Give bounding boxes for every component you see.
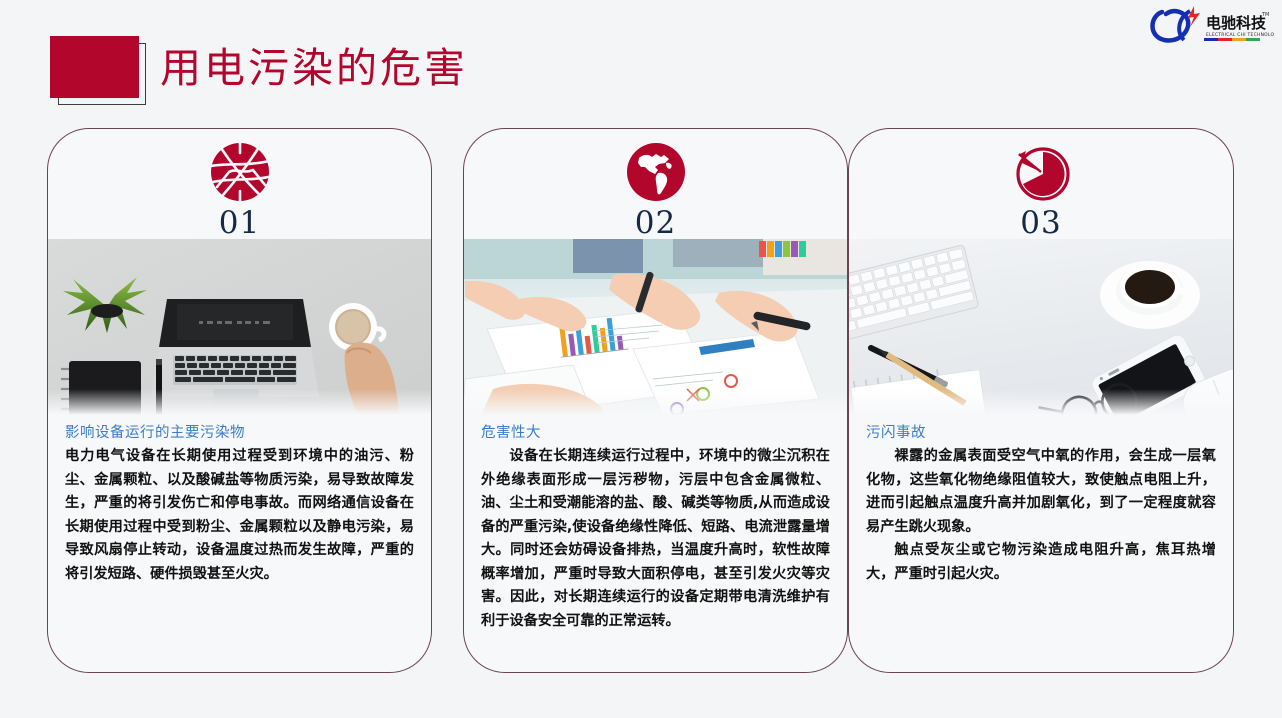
card-02-paragraph-1: 设备在长期连续运行过程中，环境中的微尘沉积在外绝缘表面形成一层污秽物，污层中包含… (481, 445, 830, 633)
card-03-body: 污闪事故 裸露的金属表面受空气中氧的作用，会生成一层氧化物，这些氧化物绝缘阻值较… (849, 415, 1233, 586)
desk-keyboard-phone-coffee-glasses-photo (849, 239, 1233, 415)
card-03[interactable]: 03 (848, 128, 1234, 673)
card-01-header: 01 (48, 129, 431, 239)
card-02-header: 02 (464, 129, 847, 239)
card-03-paragraph-2: 触点受灰尘或它物污染造成电阻升高，焦耳热增大，严重时引起火灾。 (866, 539, 1216, 586)
page-title: 用电污染的危害 (160, 32, 468, 104)
card-01-subtitle: 影响设备运行的主要污染物 (65, 421, 414, 442)
svg-text:ELECTRICAL CHI TECHNOLOGY: ELECTRICAL CHI TECHNOLOGY (1206, 32, 1274, 38)
card-03-paragraph-1: 裸露的金属表面受空气中氧的作用，会生成一层氧化物，这些氧化物绝缘阻值较大，致使触… (866, 445, 1216, 539)
card-03-header: 03 (849, 129, 1233, 239)
cards-container: 01 (0, 128, 1282, 676)
svg-text:TM: TM (1261, 12, 1269, 18)
card-02-body: 危害性大 设备在长期连续运行过程中，环境中的微尘沉积在外绝缘表面形成一层污秽物，… (464, 415, 847, 633)
card-01[interactable]: 01 (47, 128, 432, 673)
card-01-number: 01 (219, 205, 260, 241)
company-logo: 电驰科技 ELECTRICAL CHI TECHNOLOGY TM (1144, 2, 1274, 50)
card-03-number: 03 (1020, 205, 1061, 241)
card-02[interactable]: 02 (463, 128, 848, 673)
card-01-body: 影响设备运行的主要污染物 电力电气设备在长期使用过程受到环境中的油污、粉尘、金属… (48, 415, 431, 586)
team-hands-charts-documents-photo (464, 239, 847, 415)
svg-text:电驰科技: 电驰科技 (1206, 14, 1267, 32)
world-globe-icon (625, 141, 687, 203)
card-03-subtitle: 污闪事故 (866, 421, 1216, 442)
card-01-paragraph-1: 电力电气设备在长期使用过程受到环境中的油污、粉尘、金属颗粒、以及酸碱盐等物质污染… (65, 445, 414, 586)
card-02-number: 02 (635, 205, 676, 241)
pie-chart-wedge-icon (1010, 141, 1072, 203)
card-02-subtitle: 危害性大 (481, 421, 830, 442)
desk-laptop-plant-coffee-photo (48, 239, 431, 415)
cracked-globe-icon (209, 141, 271, 203)
title-red-rect (50, 36, 139, 98)
